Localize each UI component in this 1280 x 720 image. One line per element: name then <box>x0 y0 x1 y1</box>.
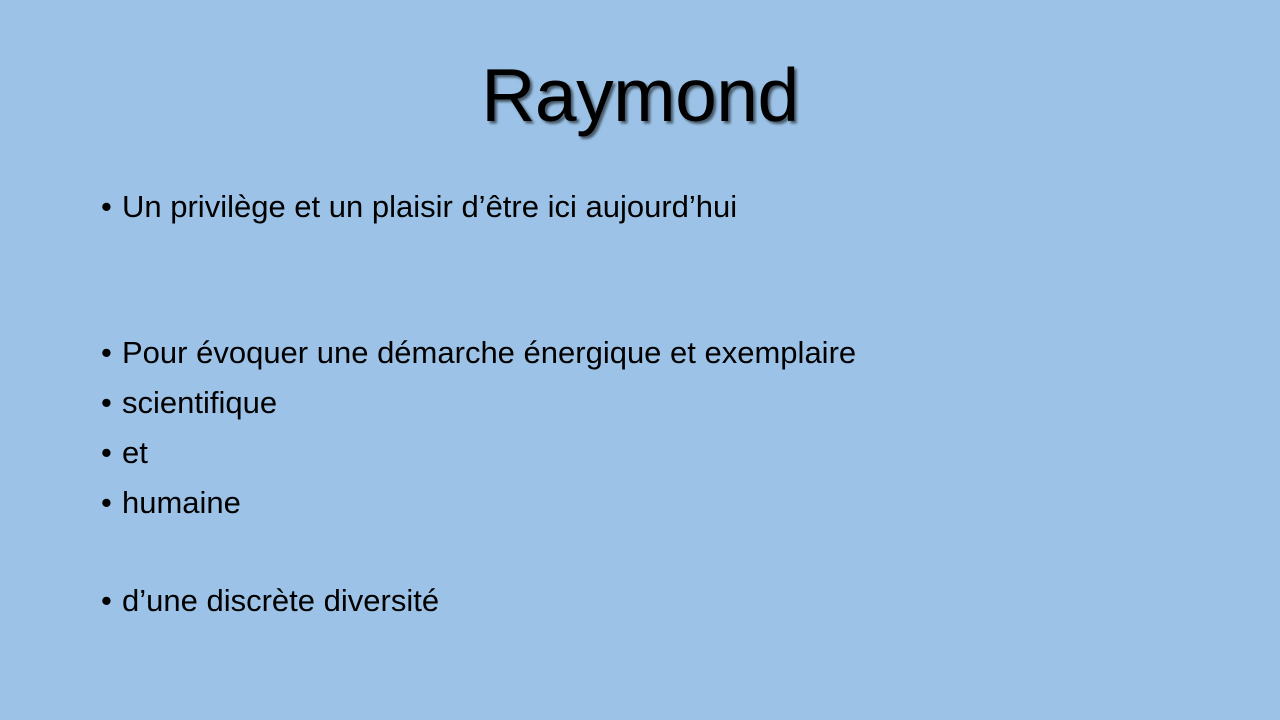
list-item[interactable]: • humaine <box>96 478 1240 528</box>
list-item-label: et <box>122 428 148 478</box>
list-item-label: d’une discrète diversité <box>122 576 439 626</box>
list-item[interactable]: • et <box>96 428 1240 478</box>
bullet-dot-icon: • <box>101 428 113 478</box>
list-item-label: scientifique <box>122 378 277 428</box>
bullet-dot-icon: • <box>101 576 113 626</box>
bullet-dot-icon: • <box>101 182 113 232</box>
list-item-label: Un privilège et un plaisir d’être ici au… <box>122 182 737 232</box>
list-item[interactable]: • Pour évoquer une démarche énergique et… <box>96 328 1240 378</box>
page-title: Raymond <box>0 58 1280 133</box>
bullet-dot-icon: • <box>101 478 113 528</box>
list-item[interactable]: • scientifique <box>96 378 1240 428</box>
list-item-label: Pour évoquer une démarche énergique et e… <box>122 328 856 378</box>
bullet-dot-icon: • <box>101 328 113 378</box>
bullet-list: • Un privilège et un plaisir d’être ici … <box>96 182 1240 626</box>
list-item[interactable]: • d’une discrète diversité <box>96 576 1240 626</box>
list-item-label: humaine <box>122 478 241 528</box>
list-item[interactable]: • Un privilège et un plaisir d’être ici … <box>96 182 1240 232</box>
presentation-slide: Raymond • Un privilège et un plaisir d’ê… <box>0 0 1280 720</box>
bullet-dot-icon: • <box>101 378 113 428</box>
